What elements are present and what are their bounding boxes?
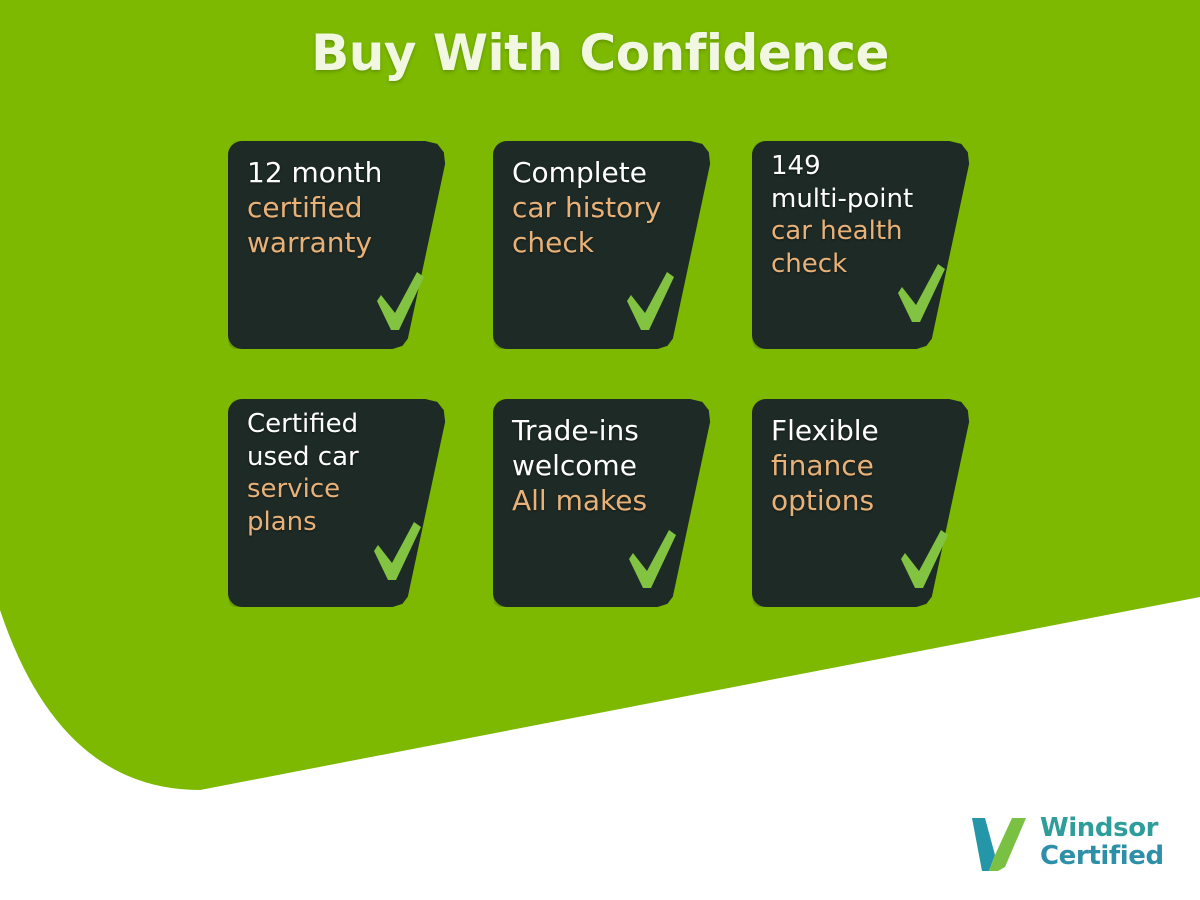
check-icon	[895, 529, 951, 591]
card-line: 12 month	[247, 155, 437, 190]
card-line: car health	[771, 215, 961, 248]
feature-card-certified-warranty[interactable]: 12 month certified warranty	[228, 141, 446, 349]
card-text-block: 12 month certified warranty	[247, 155, 437, 260]
brand-logo[interactable]: Windsor Certified	[968, 808, 1168, 878]
check-icon	[368, 521, 424, 583]
card-line: check	[512, 225, 702, 260]
card-text-block: Certified used car service plans	[247, 408, 437, 538]
card-text-block: 149 multi-point car health check	[771, 150, 961, 280]
card-line: Certified	[247, 408, 437, 441]
card-line: used car	[247, 441, 437, 474]
card-line: car history	[512, 190, 702, 225]
check-icon	[623, 529, 679, 591]
feature-card-car-history-check[interactable]: Complete car history check	[493, 141, 711, 349]
feature-card-finance-options[interactable]: Flexible finance options	[752, 399, 970, 607]
check-icon	[621, 271, 677, 333]
brand-line-2: Certified	[1040, 843, 1164, 871]
brand-line-1: Windsor	[1040, 815, 1164, 843]
page-title: Buy With Confidence	[0, 24, 1200, 82]
feature-card-trade-ins[interactable]: Trade-ins welcome All makes	[493, 399, 711, 607]
feature-card-service-plans[interactable]: Certified used car service plans	[228, 399, 446, 607]
card-line: options	[771, 483, 961, 518]
promo-banner: Buy With Confidence 12 month certified w…	[0, 0, 1200, 900]
check-icon	[371, 271, 427, 333]
windsor-w-icon	[968, 815, 1030, 871]
card-line: finance	[771, 448, 961, 483]
card-line: Trade-ins	[512, 413, 702, 448]
card-line: certified	[247, 190, 437, 225]
feature-card-multi-point-health-check[interactable]: 149 multi-point car health check	[752, 141, 970, 349]
check-icon	[892, 263, 948, 325]
card-line: 149	[771, 150, 961, 183]
card-text-block: Flexible finance options	[771, 413, 961, 518]
card-line: Complete	[512, 155, 702, 190]
card-line: warranty	[247, 225, 437, 260]
card-line: Flexible	[771, 413, 961, 448]
card-line: All makes	[512, 483, 702, 518]
brand-wordmark: Windsor Certified	[1040, 815, 1164, 870]
card-line: service	[247, 473, 437, 506]
card-line: welcome	[512, 448, 702, 483]
card-line: multi-point	[771, 183, 961, 216]
card-text-block: Trade-ins welcome All makes	[512, 413, 702, 518]
card-text-block: Complete car history check	[512, 155, 702, 260]
